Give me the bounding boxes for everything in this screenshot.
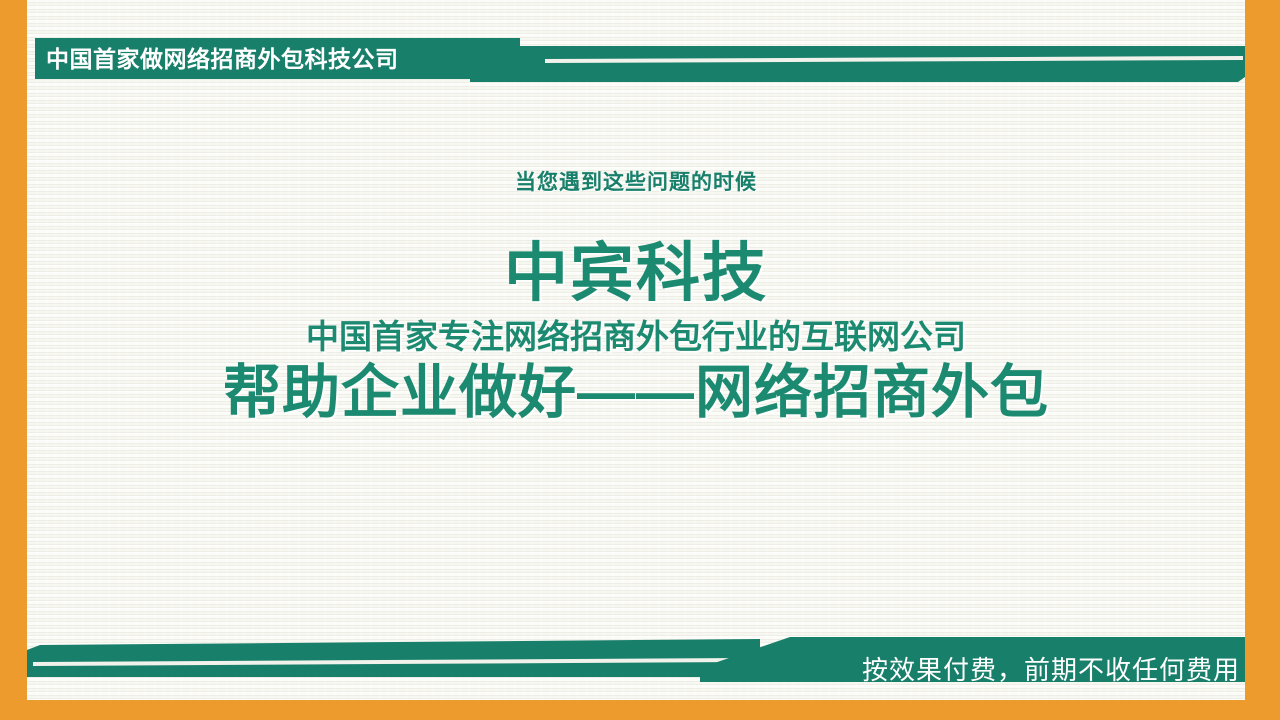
eyebrow-text: 当您遇到这些问题的时候 — [27, 166, 1245, 196]
slide-content: 当您遇到这些问题的时候 中宾科技 中国首家专注网络招商外包行业的互联网公司 帮助… — [27, 0, 1245, 720]
company-tagline: 中国首家专注网络招商外包行业的互联网公司 — [27, 319, 1245, 355]
brand-name-title: 中宾科技 — [27, 240, 1245, 307]
main-headline: 帮助企业做好——网络招商外包 — [27, 361, 1245, 426]
slide-root: 中国首家做网络招商外包科技公司 当您遇到这些问题的时候 中宾科技 中国首家专注网… — [0, 0, 1280, 720]
